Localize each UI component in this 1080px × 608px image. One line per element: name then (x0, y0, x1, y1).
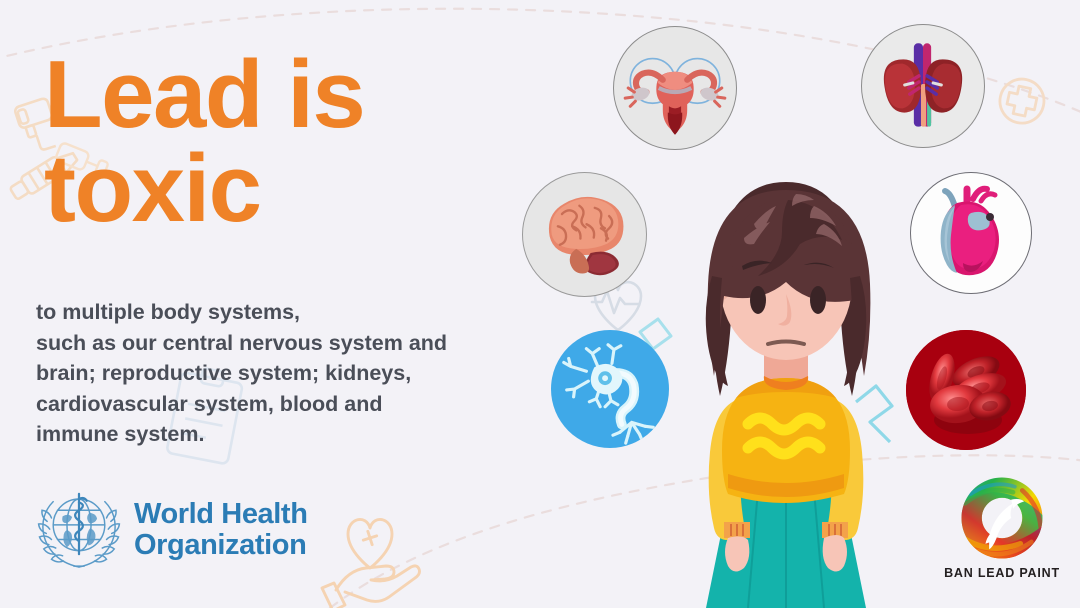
page-title: Lead is toxic (44, 48, 564, 236)
hand-heart-watermark (322, 519, 420, 608)
ban-lead-paint-text: BAN LEAD PAINT (936, 566, 1068, 580)
ban-lead-paint-logo: BAN LEAD PAINT (936, 472, 1068, 580)
infographic-poster: Lead is toxic to multiple body systems, … (0, 0, 1080, 608)
who-wordmark-text: World Health Organization (134, 499, 308, 560)
medical-cross-circle-watermark (996, 75, 1048, 127)
brain-icon (523, 173, 646, 296)
who-emblem-icon (36, 487, 122, 573)
sad-girl-illustration (636, 128, 936, 608)
subtitle-text: to multiple body systems, such as our ce… (36, 297, 536, 450)
ban-lead-paint-swirl-icon (956, 472, 1048, 564)
who-logo: World Health Organization (36, 487, 308, 573)
organ-bubble-brain (522, 172, 647, 297)
